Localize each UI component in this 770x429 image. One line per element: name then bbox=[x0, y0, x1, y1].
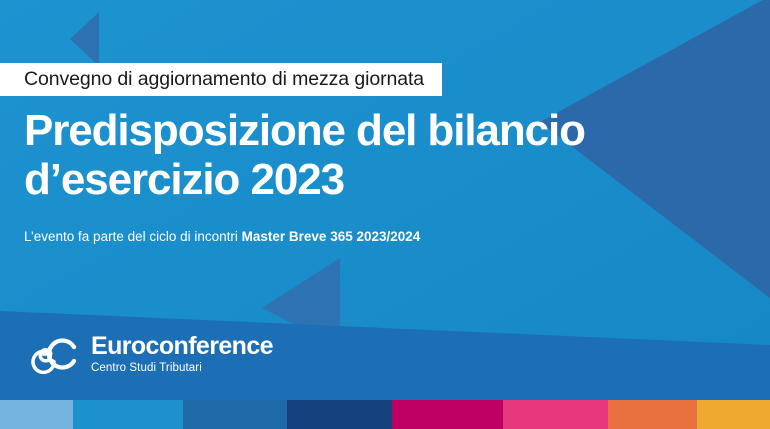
color-bar-segment-light-blue bbox=[0, 400, 73, 429]
color-bar-segment-orange bbox=[608, 400, 697, 429]
subtitle-emphasis: Master Breve 365 2023/2024 bbox=[242, 229, 421, 244]
eyebrow-label: Convegno di aggiornamento di mezza giorn… bbox=[24, 70, 424, 90]
color-bar-segment-medium-blue bbox=[183, 400, 287, 429]
brand-name: Euroconference bbox=[91, 334, 273, 360]
brand-wordmark: Euroconference Centro Studi Tributari bbox=[91, 334, 273, 374]
subtitle: L’evento fa parte del ciclo di incontri … bbox=[24, 230, 420, 244]
brand-tagline: Centro Studi Tributari bbox=[91, 362, 273, 375]
color-bar-segment-gold bbox=[697, 400, 770, 429]
color-bar-segment-blue bbox=[73, 400, 183, 429]
ec-monogram-icon bbox=[28, 334, 80, 374]
event-banner: Convegno di aggiornamento di mezza giorn… bbox=[0, 0, 770, 429]
eyebrow-strip: Convegno di aggiornamento di mezza giorn… bbox=[0, 63, 442, 96]
color-bar-segment-magenta bbox=[392, 400, 503, 429]
page-title-line-1: Predisposizione del bilancio bbox=[24, 106, 724, 155]
page-title-line-2: d’esercizio 2023 bbox=[24, 155, 724, 204]
brand-logo: Euroconference Centro Studi Tributari bbox=[28, 334, 273, 374]
color-bar-segment-pink bbox=[503, 400, 608, 429]
page-title: Predisposizione del bilancio d’esercizio… bbox=[24, 106, 724, 205]
color-bar bbox=[0, 400, 770, 429]
subtitle-lead: L’evento fa parte del ciclo di incontri bbox=[24, 229, 242, 244]
color-bar-segment-navy bbox=[287, 400, 392, 429]
